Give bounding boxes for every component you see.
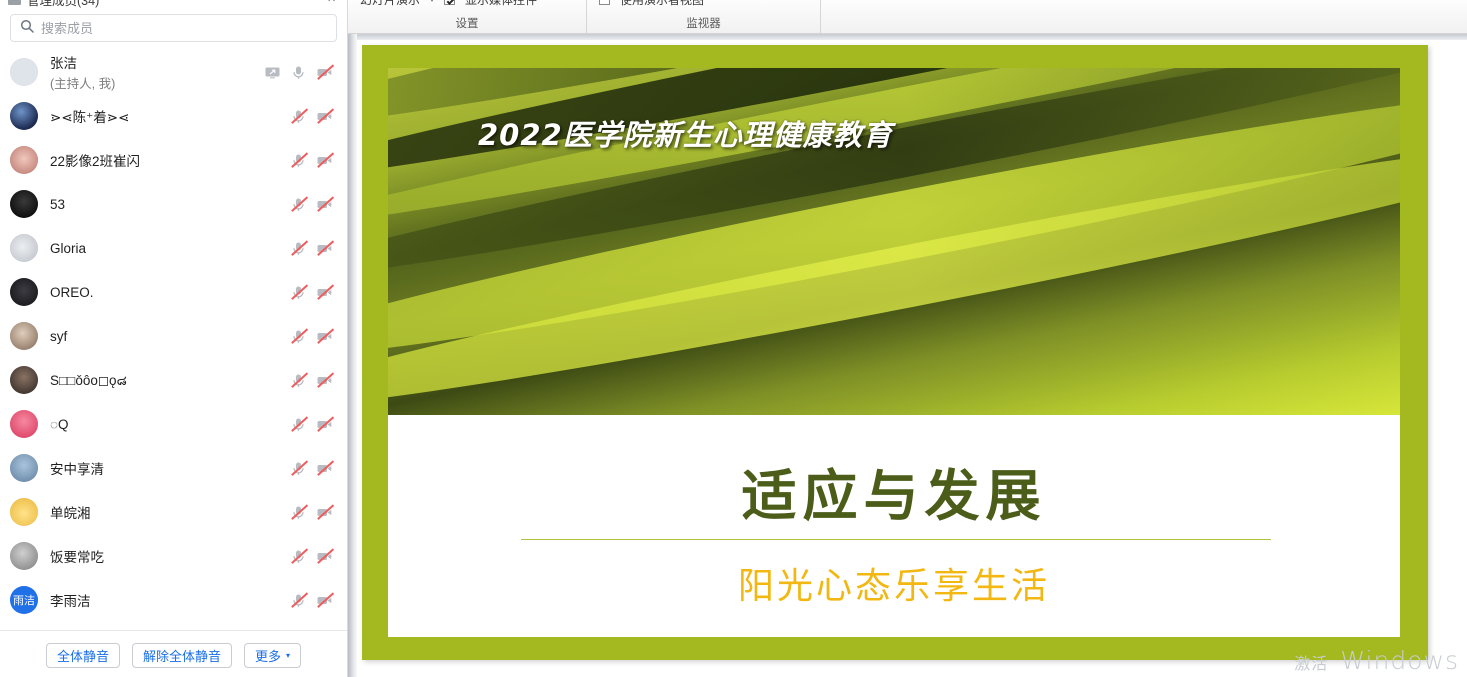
panel-footer: 全体静音 解除全体静音 更多 ▾ bbox=[0, 630, 347, 677]
microphone-muted-icon[interactable] bbox=[290, 152, 307, 169]
camera-off-icon[interactable] bbox=[316, 240, 333, 257]
participant-row[interactable]: OREO. bbox=[0, 270, 347, 314]
close-icon[interactable]: ✕ bbox=[327, 0, 340, 5]
slide-banner-image: 2022医学院新生心理健康教育 bbox=[388, 68, 1400, 415]
show-media-controls-checkbox[interactable] bbox=[444, 0, 455, 5]
camera-off-icon[interactable] bbox=[316, 460, 333, 477]
participant-name: S□□ǒôo◻ǫ๘ bbox=[50, 369, 290, 391]
camera-off-icon[interactable] bbox=[316, 284, 333, 301]
avatar bbox=[10, 278, 38, 306]
avatar: 雨洁 bbox=[10, 586, 38, 614]
stage-top-shadow bbox=[348, 34, 1467, 40]
avatar bbox=[10, 498, 38, 526]
participant-row[interactable]: syf bbox=[0, 314, 347, 358]
participant-row[interactable]: 饭要常吃 bbox=[0, 534, 347, 578]
presenter-view-label[interactable]: 使用演示者视图 bbox=[620, 0, 704, 8]
microphone-muted-icon[interactable] bbox=[290, 108, 307, 125]
search-icon bbox=[20, 19, 34, 38]
participant-row[interactable]: 雨洁李雨洁 bbox=[0, 578, 347, 622]
camera-off-icon[interactable] bbox=[316, 152, 333, 169]
ribbon-group-monitor-name: 监视器 bbox=[587, 15, 820, 31]
panel-title: 管理成员(34) bbox=[27, 0, 99, 8]
participant-row[interactable]: S□□ǒôo◻ǫ๘ bbox=[0, 358, 347, 402]
participant-row[interactable]: 单皖湘 bbox=[0, 490, 347, 534]
avatar bbox=[10, 234, 38, 262]
slide-subtitle: 阳光心态乐享生活 bbox=[388, 557, 1400, 609]
avatar bbox=[10, 366, 38, 394]
slide-stage: 2022医学院新生心理健康教育 适应与发展 阳光心态乐享生活 激活 Window… bbox=[348, 34, 1467, 677]
microphone-icon[interactable] bbox=[290, 64, 307, 81]
search-area bbox=[0, 8, 347, 50]
camera-off-icon[interactable] bbox=[316, 416, 333, 433]
minimize-icon[interactable]: — bbox=[308, 0, 321, 5]
avatar bbox=[10, 146, 38, 174]
microphone-muted-icon[interactable] bbox=[290, 548, 307, 565]
camera-off-icon[interactable] bbox=[316, 592, 333, 609]
mute-all-button[interactable]: 全体静音 bbox=[46, 643, 120, 668]
avatar bbox=[10, 102, 38, 130]
chevron-down-icon: ▾ bbox=[286, 651, 290, 660]
search-input[interactable] bbox=[41, 21, 327, 36]
participant-name-wrap: 张洁(主持人, 我) bbox=[50, 52, 264, 92]
participant-name: OREO. bbox=[50, 285, 290, 300]
participant-role: (主持人, 我) bbox=[50, 73, 264, 92]
avatar bbox=[10, 454, 38, 482]
microphone-muted-icon[interactable] bbox=[290, 328, 307, 345]
participant-controls bbox=[290, 504, 333, 521]
participant-controls bbox=[290, 240, 333, 257]
search-box[interactable] bbox=[10, 14, 337, 42]
presentation-area: 幻灯片演示 ▾ 显示媒体控件 设置 使用演示者视图 监视器 bbox=[348, 0, 1467, 677]
show-media-controls-label[interactable]: 显示媒体控件 bbox=[465, 0, 537, 8]
avatar bbox=[10, 190, 38, 218]
participant-name: 安中享清 bbox=[50, 458, 290, 478]
watermark-text: Windows bbox=[1340, 646, 1459, 675]
stage-left-shadow bbox=[348, 34, 357, 677]
avatar bbox=[10, 322, 38, 350]
participant-name-wrap: 53 bbox=[50, 197, 290, 212]
more-button[interactable]: 更多 ▾ bbox=[244, 643, 301, 668]
people-icon bbox=[8, 0, 21, 5]
participant-name-wrap: 饭要常吃 bbox=[50, 546, 290, 566]
chevron-down-icon[interactable]: ▾ bbox=[430, 0, 434, 4]
microphone-muted-icon[interactable] bbox=[290, 460, 307, 477]
camera-off-icon[interactable] bbox=[316, 548, 333, 565]
participant-controls bbox=[290, 284, 333, 301]
participant-name: 53 bbox=[50, 197, 290, 212]
participant-controls bbox=[290, 416, 333, 433]
avatar bbox=[10, 542, 38, 570]
participant-name-wrap: 安中享清 bbox=[50, 458, 290, 478]
participant-controls bbox=[290, 372, 333, 389]
participant-controls bbox=[290, 328, 333, 345]
participant-name-wrap: Gloria bbox=[50, 241, 290, 256]
participants-panel: 管理成员(34) — ✕ 张洁(主持人, 我)⋗⋖陈⁺着⋗⋖22影像2班崔闪53… bbox=[0, 0, 348, 677]
avatar bbox=[10, 58, 38, 86]
participant-row[interactable]: ◌Q bbox=[0, 402, 347, 446]
participant-name: 22影像2班崔闪 bbox=[50, 150, 290, 170]
participant-controls bbox=[290, 460, 333, 477]
powerpoint-ribbon: 幻灯片演示 ▾ 显示媒体控件 设置 使用演示者视图 监视器 bbox=[348, 0, 1467, 34]
slide-banner-title: 2022医学院新生心理健康教育 bbox=[478, 112, 893, 154]
screen-share-icon[interactable] bbox=[264, 64, 281, 81]
slideshow-dropdown-label[interactable]: 幻灯片演示 bbox=[360, 0, 420, 8]
participant-name: 单皖湘 bbox=[50, 502, 290, 522]
ribbon-group-settings: 幻灯片演示 ▾ 显示媒体控件 设置 bbox=[348, 0, 587, 34]
microphone-muted-icon[interactable] bbox=[290, 504, 307, 521]
presenter-view-checkbox[interactable] bbox=[599, 0, 610, 5]
screen-root: 管理成员(34) — ✕ 张洁(主持人, 我)⋗⋖陈⁺着⋗⋖22影像2班崔闪53… bbox=[0, 0, 1467, 677]
participant-row[interactable]: 22影像2班崔闪 bbox=[0, 138, 347, 182]
participant-list[interactable]: 张洁(主持人, 我)⋗⋖陈⁺着⋗⋖22影像2班崔闪53GloriaOREO.sy… bbox=[0, 50, 347, 630]
slide-canvas[interactable]: 2022医学院新生心理健康教育 适应与发展 阳光心态乐享生活 bbox=[362, 45, 1428, 660]
participant-name-wrap: 22影像2班崔闪 bbox=[50, 150, 290, 170]
participant-name: ◌Q bbox=[50, 417, 290, 432]
participant-name: 张洁 bbox=[50, 52, 264, 72]
participant-row[interactable]: ⋗⋖陈⁺着⋗⋖ bbox=[0, 94, 347, 138]
participant-name: Gloria bbox=[50, 241, 290, 256]
camera-off-icon[interactable] bbox=[316, 372, 333, 389]
participant-name: 李雨洁 bbox=[50, 590, 290, 610]
slide-main-title: 适应与发展 bbox=[388, 451, 1400, 531]
windows-activation-watermark: 激活 Windows bbox=[1294, 646, 1459, 675]
participant-name: ⋗⋖陈⁺着⋗⋖ bbox=[50, 106, 290, 126]
microphone-muted-icon[interactable] bbox=[290, 416, 307, 433]
participant-name-wrap: 李雨洁 bbox=[50, 590, 290, 610]
participant-row[interactable]: Gloria bbox=[0, 226, 347, 270]
microphone-muted-icon[interactable] bbox=[290, 240, 307, 257]
participant-name-wrap: OREO. bbox=[50, 285, 290, 300]
participant-name: syf bbox=[50, 329, 290, 344]
ribbon-empty-space bbox=[821, 0, 1467, 34]
participant-row[interactable]: 张洁(主持人, 我) bbox=[0, 50, 347, 94]
participant-row[interactable]: 53 bbox=[0, 182, 347, 226]
slide-divider bbox=[521, 539, 1271, 540]
microphone-muted-icon[interactable] bbox=[290, 372, 307, 389]
camera-off-icon[interactable] bbox=[316, 328, 333, 345]
camera-off-icon[interactable] bbox=[316, 64, 333, 81]
microphone-muted-icon[interactable] bbox=[290, 196, 307, 213]
participant-name-wrap: ◌Q bbox=[50, 417, 290, 432]
unmute-all-button[interactable]: 解除全体静音 bbox=[132, 643, 232, 668]
camera-off-icon[interactable] bbox=[316, 504, 333, 521]
participant-name-wrap: 单皖湘 bbox=[50, 502, 290, 522]
microphone-muted-icon[interactable] bbox=[290, 284, 307, 301]
participant-controls bbox=[290, 196, 333, 213]
camera-off-icon[interactable] bbox=[316, 196, 333, 213]
participant-controls bbox=[290, 548, 333, 565]
microphone-muted-icon[interactable] bbox=[290, 592, 307, 609]
participant-name-wrap: syf bbox=[50, 329, 290, 344]
ribbon-group-monitor: 使用演示者视图 监视器 bbox=[587, 0, 821, 34]
camera-off-icon[interactable] bbox=[316, 108, 333, 125]
participant-controls bbox=[290, 592, 333, 609]
participant-name-wrap: S□□ǒôo◻ǫ๘ bbox=[50, 369, 290, 391]
slide-text-area: 适应与发展 阳光心态乐享生活 bbox=[388, 415, 1400, 637]
participant-controls bbox=[290, 152, 333, 169]
ribbon-group-settings-name: 设置 bbox=[348, 15, 586, 31]
participant-name-wrap: ⋗⋖陈⁺着⋗⋖ bbox=[50, 106, 290, 126]
avatar bbox=[10, 410, 38, 438]
panel-titlebar: 管理成员(34) — ✕ bbox=[0, 0, 347, 8]
participant-name: 饭要常吃 bbox=[50, 546, 290, 566]
participant-controls bbox=[264, 64, 333, 81]
participant-row[interactable]: 安中享清 bbox=[0, 446, 347, 490]
watermark-cn-text: 激活 bbox=[1294, 654, 1334, 673]
participant-controls bbox=[290, 108, 333, 125]
more-label: 更多 bbox=[255, 646, 281, 665]
